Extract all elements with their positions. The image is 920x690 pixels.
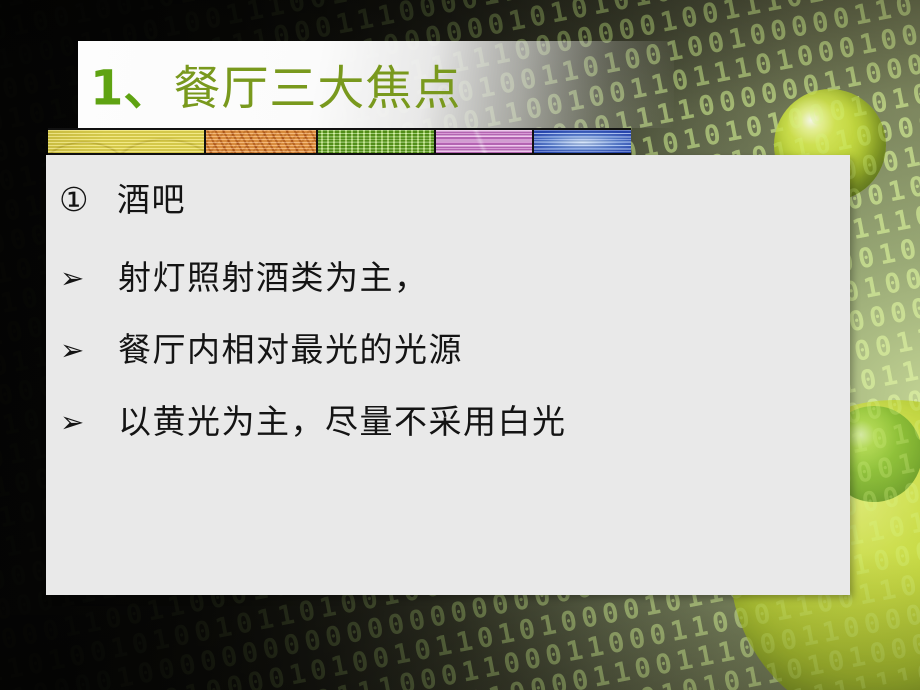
color-swatch-orange [206, 130, 318, 153]
circled-number-icon: ① [58, 177, 117, 223]
presentation-slide: 0000111111111111100000000000000010000111… [0, 0, 920, 690]
list-item: ➢ 以黄光为主，尽量不采用白光 [46, 399, 850, 445]
page-title: 餐厅三大焦点 [173, 61, 461, 116]
list-item: ➢ 射灯照射酒类为主， [46, 255, 850, 301]
list-item-label: 酒吧 [117, 177, 850, 223]
slide-title: 1、餐厅三大焦点 [90, 48, 461, 118]
arrow-bullet-icon: ➢ [58, 399, 118, 445]
arrow-bullet-icon: ➢ [58, 255, 118, 301]
list-item-label: 以黄光为主，尽量不采用白光 [118, 399, 850, 445]
content-panel: ① 酒吧 ➢ 射灯照射酒类为主， ➢ 餐厅内相对最光的光源 ➢ 以黄光为主，尽量… [46, 155, 850, 595]
color-swatch-yellow [48, 130, 206, 153]
arrow-bullet-icon: ➢ [58, 327, 118, 373]
bullet-list: ① 酒吧 ➢ 射灯照射酒类为主， ➢ 餐厅内相对最光的光源 ➢ 以黄光为主，尽量… [46, 177, 850, 471]
title-panel: 1、餐厅三大焦点 [78, 41, 674, 128]
title-number: 1、 [90, 60, 171, 116]
color-swatch-green [318, 130, 436, 153]
color-swatch-magenta [436, 130, 534, 153]
decorative-color-bar [48, 128, 631, 155]
list-item: ① 酒吧 [46, 177, 850, 223]
color-swatch-blue [534, 130, 631, 153]
list-item-label: 餐厅内相对最光的光源 [118, 327, 850, 373]
list-item: ➢ 餐厅内相对最光的光源 [46, 327, 850, 373]
list-item-label: 射灯照射酒类为主， [118, 255, 850, 301]
